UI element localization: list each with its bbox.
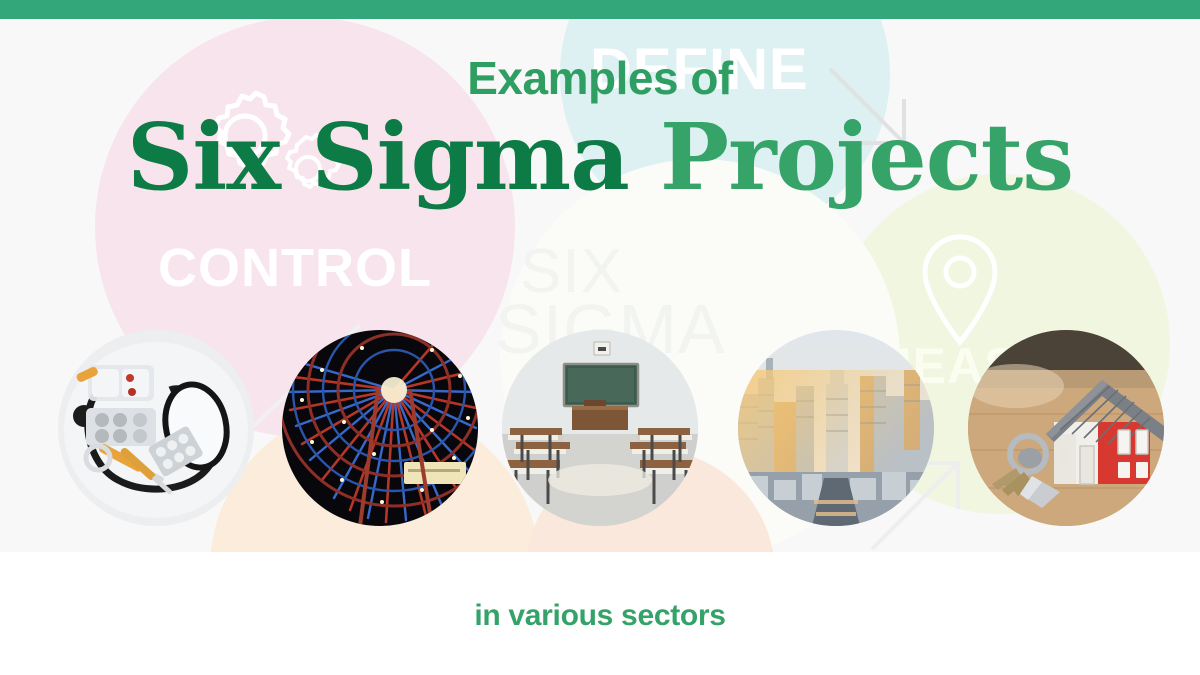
city-skyline-photo-art xyxy=(738,330,934,526)
top-accent-bar xyxy=(0,0,1200,19)
city-skyline-photo xyxy=(738,330,934,526)
page-title: Six Sigma Projects xyxy=(0,109,1200,206)
real-estate-photo-art xyxy=(968,330,1164,526)
slide-canvas: SIX SIGMA DEFINE CONTROL MEASURE xyxy=(0,0,1200,675)
kicker-text: Examples of xyxy=(0,55,1200,101)
subtitle-text: in various sectors xyxy=(0,599,1200,633)
healthcare-photo-art xyxy=(58,330,254,526)
education-photo-art xyxy=(502,330,698,526)
entertainment-photo-art xyxy=(282,330,478,526)
education-photo xyxy=(502,330,698,526)
headline-block: Examples of Six Sigma Projects xyxy=(0,55,1200,206)
watermark-control: CONTROL xyxy=(158,241,432,295)
healthcare-photo xyxy=(58,330,254,526)
photo-row xyxy=(0,330,1200,540)
title-six-sigma: Six Sigma xyxy=(127,103,629,211)
footer-strip: in various sectors xyxy=(0,552,1200,675)
entertainment-photo xyxy=(282,330,478,526)
real-estate-photo xyxy=(968,330,1164,526)
title-projects: Projects xyxy=(660,103,1073,211)
